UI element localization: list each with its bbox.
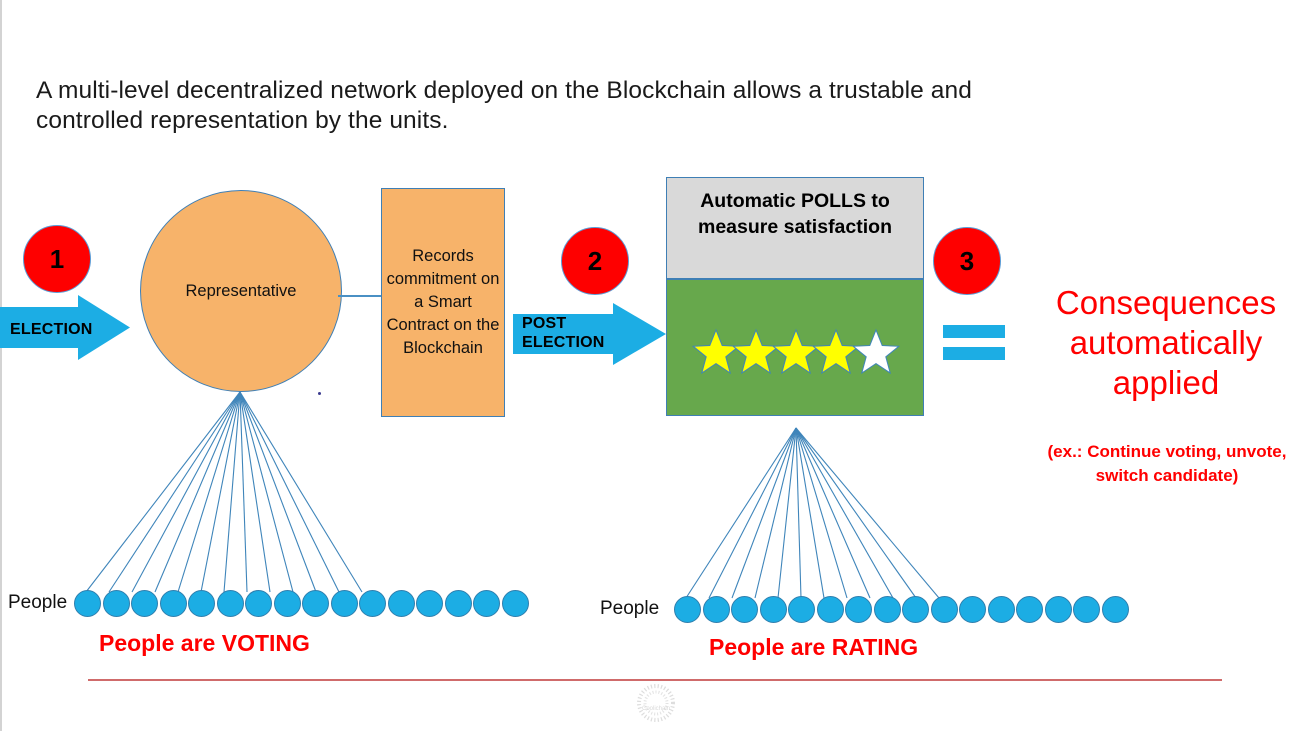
people-dot (902, 596, 929, 623)
people-dot (959, 596, 986, 623)
consequences-subtitle: (ex.: Continue voting, unvote, switch ca… (1036, 440, 1298, 488)
equals-bar-bottom (943, 347, 1005, 360)
people-dot (760, 596, 787, 623)
people-dot (874, 596, 901, 623)
people-dot (931, 596, 958, 623)
equals-sign (943, 325, 1005, 360)
watermark-arc-icon: Coolichain (623, 683, 689, 727)
people-dot (817, 596, 844, 623)
slide-canvas: A multi-level decentralized network depl… (0, 0, 1310, 731)
people-dot (674, 596, 701, 623)
people-dot (1045, 596, 1072, 623)
people-dot (1016, 596, 1043, 623)
equals-bar-top (943, 325, 1005, 338)
right-people-dots (674, 596, 1130, 623)
right-fan-group (686, 428, 939, 598)
right-people-label: People (600, 598, 659, 620)
people-dot (788, 596, 815, 623)
bottom-divider (88, 679, 1222, 681)
people-dot (731, 596, 758, 623)
step-3-badge: 3 (933, 227, 1001, 295)
coolichain-watermark: Coolichain (622, 682, 690, 728)
watermark-text: Coolichain (642, 706, 670, 712)
consequences-title: Consequences automatically applied (1030, 283, 1302, 403)
people-dot (703, 596, 730, 623)
people-dot (1073, 596, 1100, 623)
right-caption: People are RATING (709, 634, 918, 661)
people-dot (988, 596, 1015, 623)
people-dot (845, 596, 872, 623)
people-dot (1102, 596, 1129, 623)
step-3-number: 3 (960, 246, 974, 277)
